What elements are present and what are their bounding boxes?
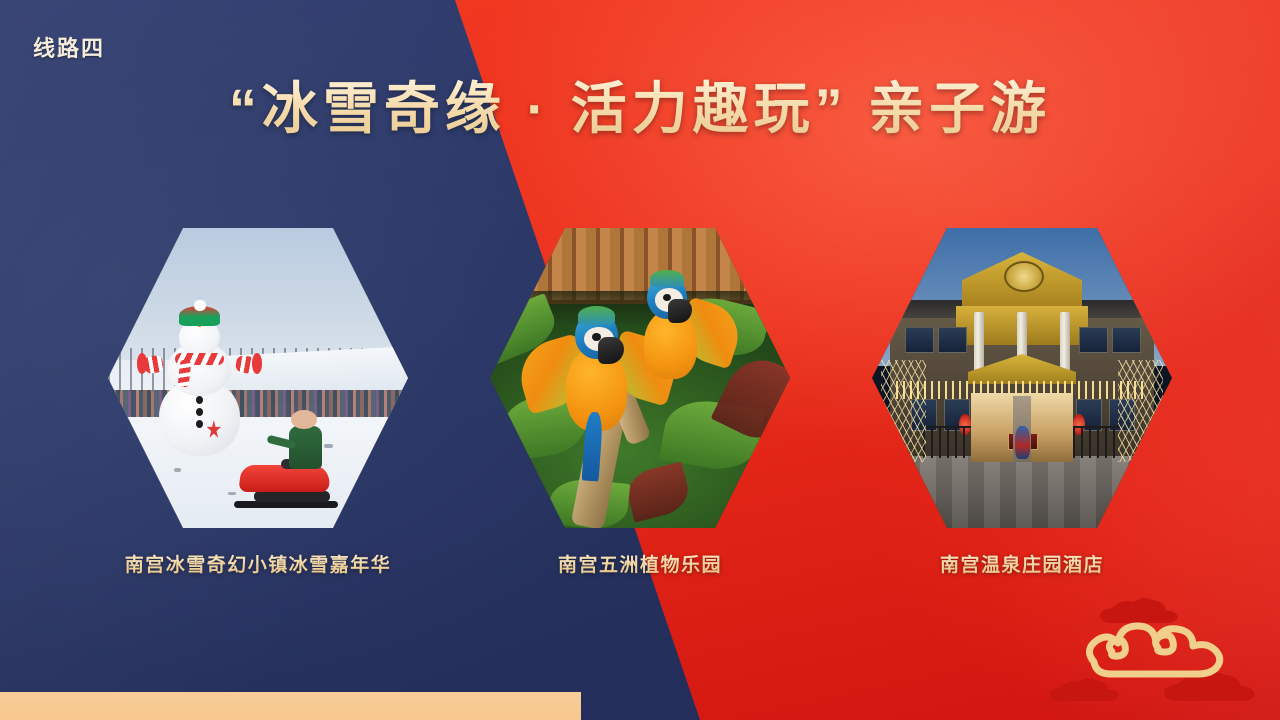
attraction-caption: 南宫冰雪奇幻小镇冰雪嘉年华 bbox=[125, 550, 392, 577]
hotel-window bbox=[1112, 327, 1141, 353]
snowman-mitten-right bbox=[252, 353, 262, 374]
entrance-railing-left bbox=[923, 426, 971, 458]
snowman-button-1 bbox=[196, 396, 203, 404]
illuminated-tree-right bbox=[1118, 360, 1163, 462]
snowmobile-ski bbox=[234, 501, 338, 508]
attraction-card[interactable]: 南宫温泉庄园酒店 bbox=[872, 228, 1172, 577]
slide-root: 线路四 “冰雪奇缘 · 活力趣玩” 亲子游 bbox=[0, 0, 1280, 720]
attraction-card[interactable]: 南宫五洲植物乐园 bbox=[490, 228, 790, 577]
hotel-window bbox=[1079, 327, 1108, 353]
hexagon-photo-hotel bbox=[872, 228, 1172, 528]
hotel-window bbox=[938, 327, 967, 353]
entrance-railing-right bbox=[1073, 426, 1121, 458]
hexagon-photo-botanical-park bbox=[490, 228, 790, 528]
snowman-nose bbox=[198, 325, 201, 327]
crowd-of-visitors bbox=[108, 390, 408, 417]
page-title: “冰雪奇缘 · 活力趣玩” 亲子游 bbox=[0, 78, 1280, 140]
attraction-caption: 南宫五洲植物乐园 bbox=[558, 550, 722, 577]
attraction-caption: 南宫温泉庄园酒店 bbox=[940, 550, 1104, 577]
rider-head bbox=[291, 410, 317, 429]
scene-snow-carnival bbox=[108, 228, 408, 528]
hexagon-photo-snow-carnival bbox=[108, 228, 408, 528]
scene-macaw-greenhouse bbox=[490, 228, 790, 528]
snow-debris bbox=[174, 468, 181, 472]
snow-debris bbox=[324, 444, 333, 448]
snowman-button-2 bbox=[196, 408, 203, 416]
hotel-emblem-medallion bbox=[1004, 261, 1044, 292]
macaw-crown bbox=[650, 270, 684, 287]
snowman-button-3 bbox=[196, 420, 203, 428]
snowman-hat-pompom bbox=[194, 300, 205, 311]
macaw-rear bbox=[610, 264, 742, 408]
snowmobile-track bbox=[254, 491, 329, 502]
hotel-window bbox=[905, 327, 934, 353]
entrance-mascot-figure bbox=[1015, 426, 1030, 459]
route-label: 线路四 bbox=[33, 31, 105, 63]
snow-debris bbox=[366, 474, 372, 477]
attraction-card-list: 南宫冰雪奇幻小镇冰雪嘉年华 bbox=[0, 228, 1280, 577]
snowman-mitten-left bbox=[137, 353, 147, 374]
snow-debris bbox=[228, 492, 236, 495]
attraction-card[interactable]: 南宫冰雪奇幻小镇冰雪嘉年华 bbox=[108, 228, 408, 577]
scene-hotel-facade bbox=[872, 228, 1172, 528]
illuminated-tree-left bbox=[881, 360, 926, 462]
bottom-accent-strip bbox=[0, 692, 581, 720]
inflatable-snowman bbox=[156, 306, 243, 456]
